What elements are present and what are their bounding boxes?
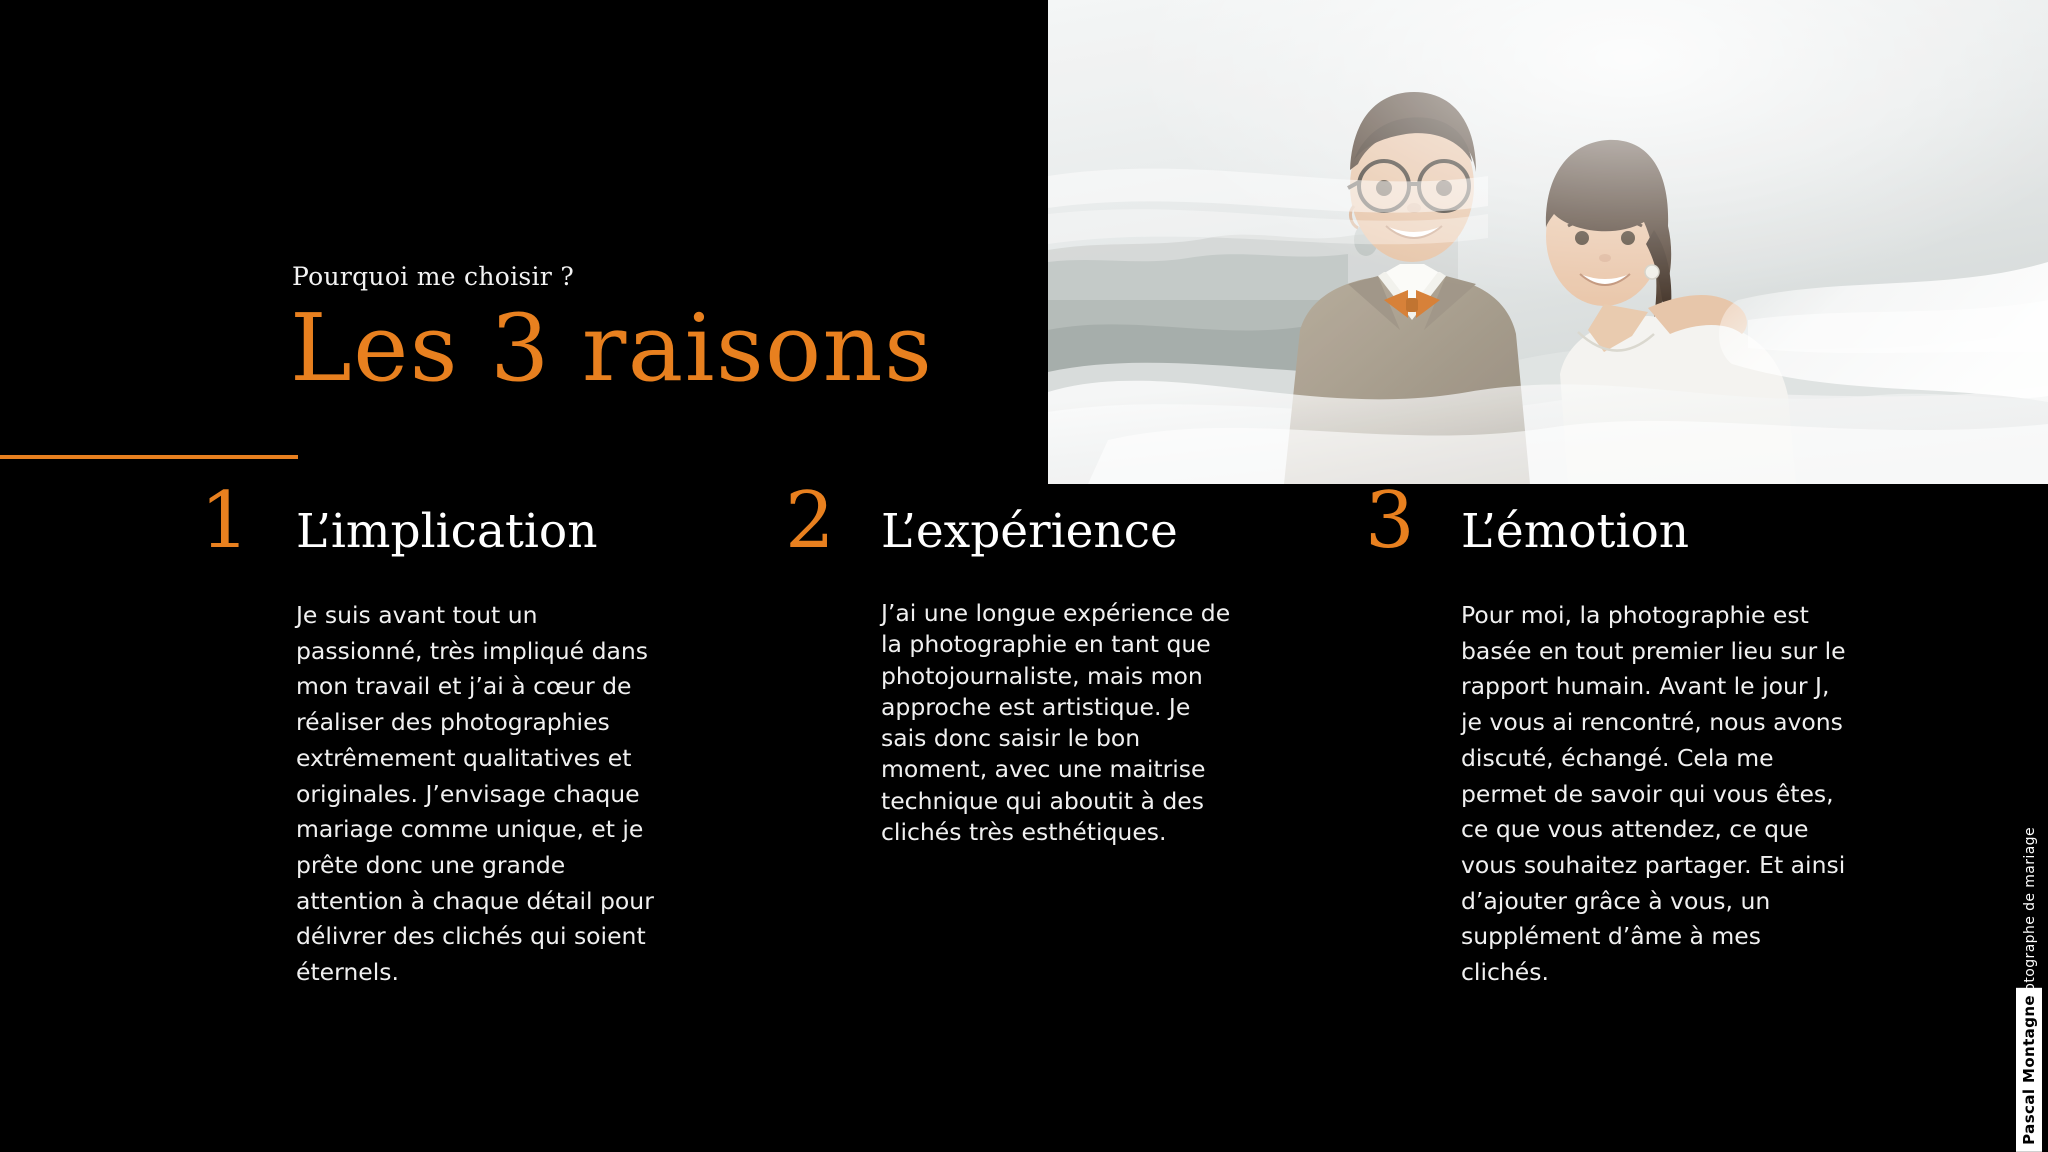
reason-header-1: 1 L’implication: [200, 492, 620, 584]
brand-tagline: Photographe de mariage: [2018, 823, 2042, 1014]
reason-title-3: L’émotion: [1461, 508, 1689, 555]
brand-strip: Photographe de mariage Pascal Montagne: [2000, 896, 2048, 1152]
reason-body-3: Pour moi, la photographie est basée en t…: [1461, 598, 1851, 991]
reason-number-3: 3: [1365, 482, 1415, 560]
reason-header-2: 2 L’expérience: [785, 492, 1185, 584]
reason-body-1: Je suis avant tout un passionné, très im…: [296, 598, 666, 991]
accent-divider: [0, 455, 298, 459]
reason-body-2: J’ai une longue expérience de la photogr…: [881, 598, 1239, 848]
reason-title-1: L’implication: [296, 508, 597, 555]
reason-title-2: L’expérience: [881, 508, 1178, 555]
hero-photo: [1048, 0, 2048, 484]
reasons-list: 1 L’implication Je suis avant tout un pa…: [0, 492, 2048, 912]
section-eyebrow: Pourquoi me choisir ?: [292, 262, 574, 291]
brand-name: Pascal Montagne: [2016, 988, 2042, 1152]
reason-item-1: 1 L’implication Je suis avant tout un pa…: [200, 492, 620, 584]
reason-header-3: 3 L’émotion: [1365, 492, 1785, 584]
page-title: Les 3 raisons: [290, 300, 933, 398]
wedding-couple-photo-icon: [1048, 0, 2048, 484]
reason-number-1: 1: [200, 482, 250, 560]
reason-number-2: 2: [785, 482, 835, 560]
reason-item-3: 3 L’émotion Pour moi, la photographie es…: [1365, 492, 1785, 584]
reason-item-2: 2 L’expérience J’ai une longue expérienc…: [785, 492, 1185, 584]
